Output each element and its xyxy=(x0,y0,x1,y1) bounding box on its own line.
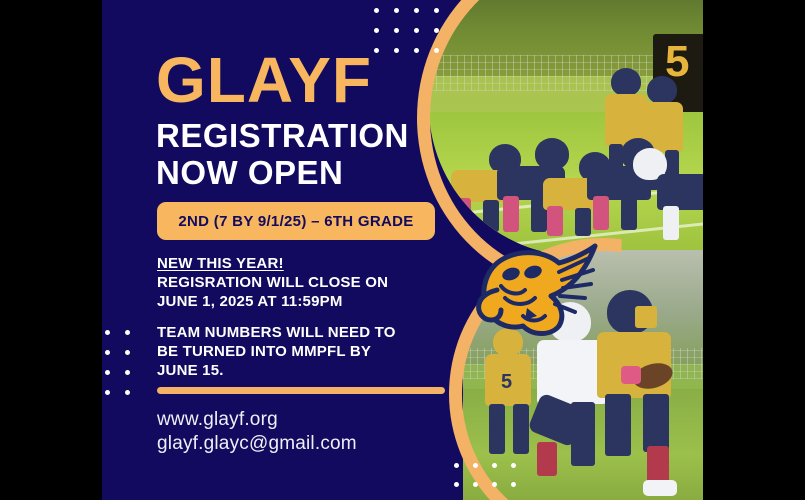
note-line: JUNE 15. xyxy=(157,361,396,380)
divider-bar xyxy=(157,387,445,394)
note-heading: NEW THIS YEAR! xyxy=(157,255,284,272)
note-new-this-year: NEW THIS YEAR! REGISRATION WILL CLOSE ON… xyxy=(157,254,388,312)
dot-grid-bottom xyxy=(454,463,516,487)
player-glove xyxy=(621,366,641,384)
dot-grid-top xyxy=(374,8,439,53)
player-leg xyxy=(647,446,669,484)
note-team-numbers: TEAM NUMBERS WILL NEED TO BE TURNED INTO… xyxy=(157,323,396,381)
poster-root: 5 xyxy=(0,0,805,500)
lion-mascot-icon xyxy=(467,232,602,342)
player-leg xyxy=(663,206,679,240)
grade-range-label: 2ND (7 BY 9/1/25) – 6TH GRADE xyxy=(178,214,413,229)
subtitle-line-2: NOW OPEN xyxy=(156,155,409,192)
poster-content: GLAYF REGISTRATION NOW OPEN 2ND (7 BY 9/… xyxy=(102,0,462,500)
note-line: JUNE 1, 2025 AT 11:59PM xyxy=(157,292,388,311)
note-line: TEAM NUMBERS WILL NEED TO xyxy=(157,323,396,342)
email-link[interactable]: glayf.glayc@gmail.com xyxy=(157,432,357,456)
page-title: GLAYF xyxy=(156,50,372,111)
note-line: REGISRATION WILL CLOSE ON xyxy=(157,273,388,292)
website-link[interactable]: www.glayf.org xyxy=(157,408,357,432)
player-facemask xyxy=(635,306,657,328)
player-jersey xyxy=(657,174,703,210)
player-cleat xyxy=(643,480,677,496)
subtitle-line-1: REGISTRATION xyxy=(156,118,409,155)
player-helmet xyxy=(647,76,677,104)
note-line: BE TURNED INTO MMPFL BY xyxy=(157,342,396,361)
player-figure-white-helmet xyxy=(633,148,703,240)
player-leg xyxy=(643,394,669,452)
lion-mascot-logo xyxy=(467,232,602,342)
subtitle: REGISTRATION NOW OPEN xyxy=(156,118,409,192)
dot-grid-left xyxy=(105,330,130,395)
grade-range-badge: 2ND (7 BY 9/1/25) – 6TH GRADE xyxy=(157,202,435,240)
contact-block: www.glayf.org glayf.glayc@gmail.com xyxy=(157,408,357,457)
poster-canvas: 5 xyxy=(102,0,703,500)
